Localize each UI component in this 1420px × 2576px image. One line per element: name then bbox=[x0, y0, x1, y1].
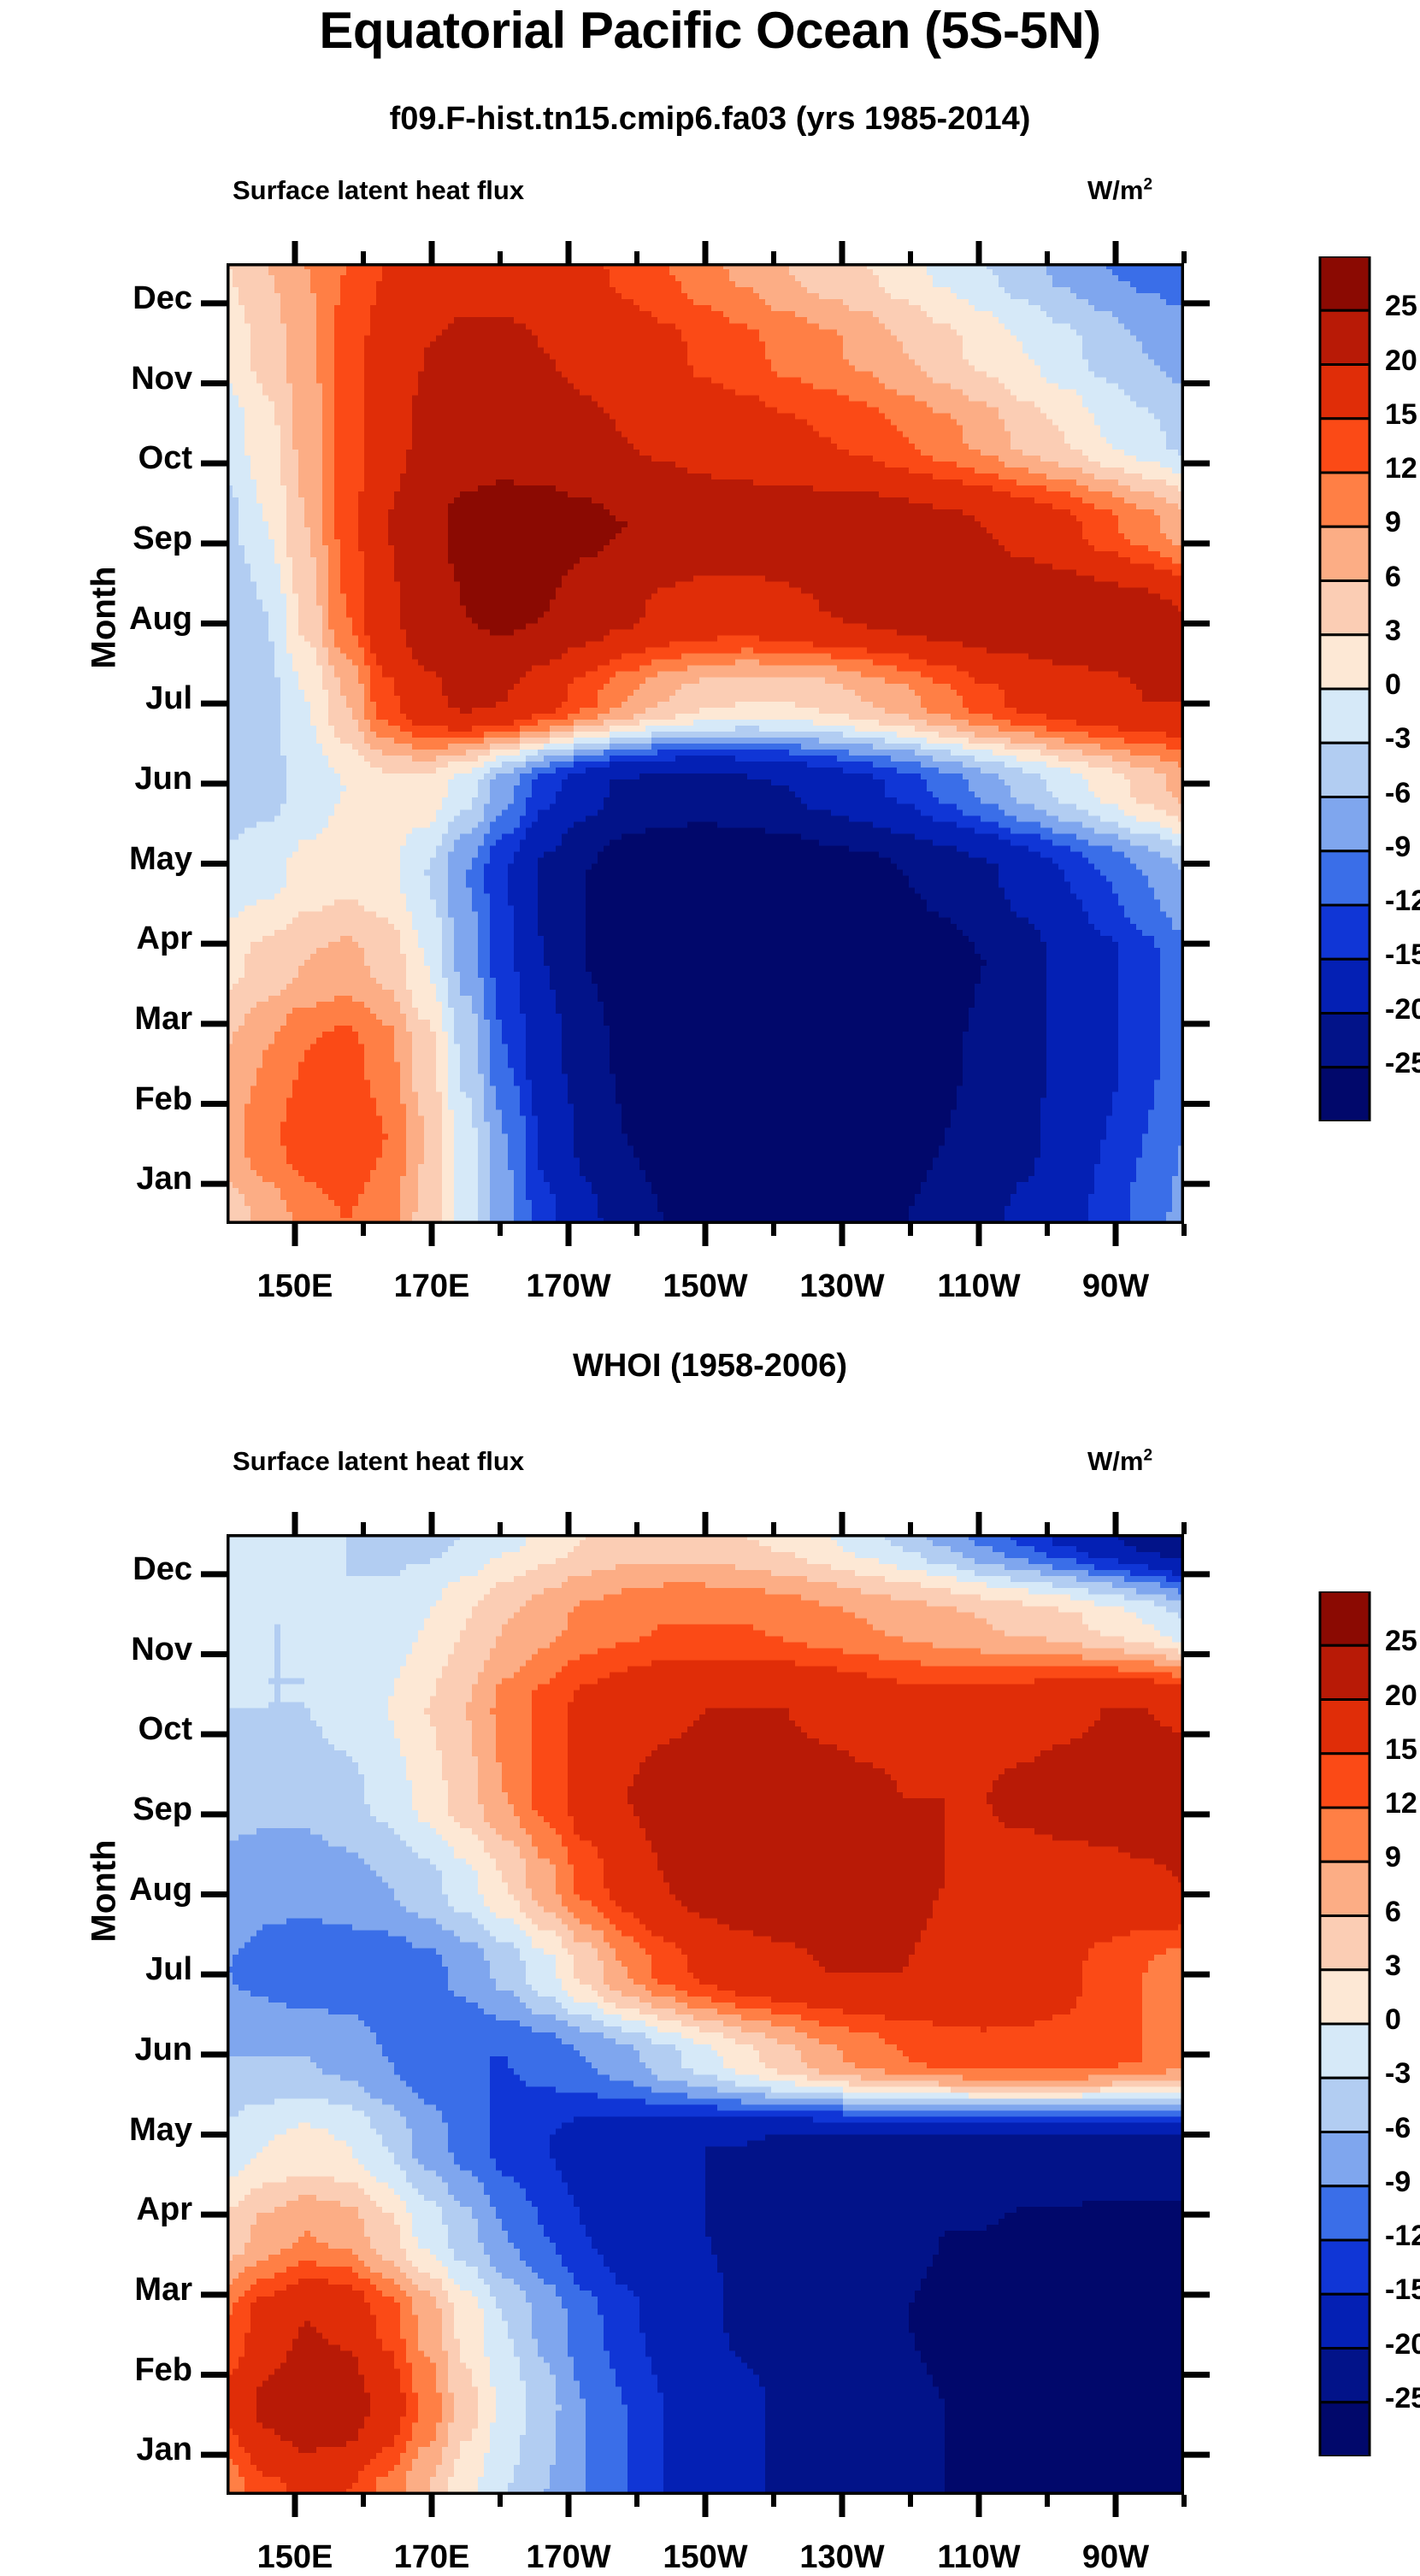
unit-exponent: 2 bbox=[1143, 176, 1152, 194]
y-tick-label: Feb bbox=[47, 1081, 192, 1118]
colorbar-tick-label: 15 bbox=[1385, 398, 1417, 432]
y-tick-label: Jun bbox=[47, 2032, 192, 2068]
colorbar-tick-label: -25 bbox=[1385, 1047, 1420, 1080]
colorbar-tick-label: -6 bbox=[1385, 2112, 1411, 2145]
y-tick-label: Dec bbox=[47, 280, 192, 317]
colorbar-tick-label: -9 bbox=[1385, 831, 1411, 864]
y-tick-label: Nov bbox=[47, 361, 192, 397]
y-tick-label: May bbox=[47, 841, 192, 878]
colorbar-tick-label: 20 bbox=[1385, 344, 1417, 378]
y-tick-label: Sep bbox=[47, 1791, 192, 1828]
panel-1-title: f09.F-hist.tn15.cmip6.fa03 (yrs 1985-201… bbox=[0, 101, 1420, 138]
y-tick-label: Jul bbox=[47, 680, 192, 717]
colorbar-tick-label: -3 bbox=[1385, 722, 1411, 756]
colorbar-tick-label: -12 bbox=[1385, 2220, 1420, 2253]
y-tick-label: Sep bbox=[47, 520, 192, 557]
y-tick-label: Apr bbox=[47, 2191, 192, 2228]
y-tick-label: Apr bbox=[47, 920, 192, 957]
colorbar-tick-label: 3 bbox=[1385, 615, 1401, 648]
colorbar-tick-label: 3 bbox=[1385, 1950, 1401, 1983]
colorbar-tick-label: 25 bbox=[1385, 1625, 1417, 1658]
colorbar-tick-label: 0 bbox=[1385, 2003, 1401, 2037]
panel-2-axes bbox=[192, 1500, 1235, 2551]
colorbar-tick-label: 12 bbox=[1385, 1787, 1417, 1820]
colorbar-tick-label: 25 bbox=[1385, 290, 1417, 323]
colorbar-tick-label: 15 bbox=[1385, 1733, 1417, 1767]
panel-2-title: WHOI (1958-2006) bbox=[0, 1348, 1420, 1385]
colorbar-tick-label: 0 bbox=[1385, 668, 1401, 702]
colorbar-tick-label: -3 bbox=[1385, 2057, 1411, 2091]
unit-base: W/m bbox=[1087, 175, 1143, 205]
y-tick-label: Nov bbox=[47, 1632, 192, 1668]
y-tick-label: Jan bbox=[47, 2432, 192, 2468]
y-tick-label: Aug bbox=[47, 601, 192, 638]
panel-2-unit-label: W/m2 bbox=[1087, 1446, 1152, 1477]
colorbar-tick-label: -15 bbox=[1385, 2273, 1420, 2307]
colorbar-tick-label: 6 bbox=[1385, 561, 1401, 594]
panel-1-colorbar bbox=[1318, 256, 1371, 1121]
panel-1-axes bbox=[192, 229, 1235, 1280]
unit-base: W/m bbox=[1087, 1446, 1143, 1476]
y-tick-label: Oct bbox=[47, 440, 192, 477]
colorbar-tick-label: -6 bbox=[1385, 777, 1411, 810]
y-tick-label: Feb bbox=[47, 2352, 192, 2389]
colorbar-tick-label: -12 bbox=[1385, 885, 1420, 918]
colorbar-tick-label: -9 bbox=[1385, 2166, 1411, 2199]
colorbar-tick-label: 20 bbox=[1385, 1679, 1417, 1713]
colorbar-tick-label: -20 bbox=[1385, 993, 1420, 1026]
y-tick-label: Dec bbox=[47, 1551, 192, 1588]
colorbar-tick-label: 9 bbox=[1385, 506, 1401, 539]
y-tick-label: Mar bbox=[47, 1001, 192, 1038]
y-tick-label: Oct bbox=[47, 1711, 192, 1748]
colorbar-tick-label: 6 bbox=[1385, 1896, 1401, 1929]
y-tick-label: Aug bbox=[47, 1872, 192, 1908]
colorbar-tick-label: 12 bbox=[1385, 452, 1417, 485]
y-tick-label: Jun bbox=[47, 761, 192, 797]
colorbar-tick-label: -15 bbox=[1385, 938, 1420, 972]
colorbar-tick-label: -25 bbox=[1385, 2382, 1420, 2415]
page-title: Equatorial Pacific Ocean (5S-5N) bbox=[0, 5, 1420, 56]
y-tick-label: Mar bbox=[47, 2272, 192, 2308]
colorbar-tick-label: 9 bbox=[1385, 1841, 1401, 1874]
panel-1-unit-label: W/m2 bbox=[1087, 175, 1152, 206]
y-tick-label: Jan bbox=[47, 1161, 192, 1197]
y-tick-label: Jul bbox=[47, 1951, 192, 1988]
unit-exponent: 2 bbox=[1143, 1447, 1152, 1465]
panel-2-field-label: Surface latent heat flux bbox=[233, 1446, 524, 1477]
panel-1-field-label: Surface latent heat flux bbox=[233, 175, 524, 206]
y-tick-label: May bbox=[47, 2112, 192, 2149]
panel-2-colorbar bbox=[1318, 1591, 1371, 2456]
colorbar-tick-label: -20 bbox=[1385, 2328, 1420, 2361]
